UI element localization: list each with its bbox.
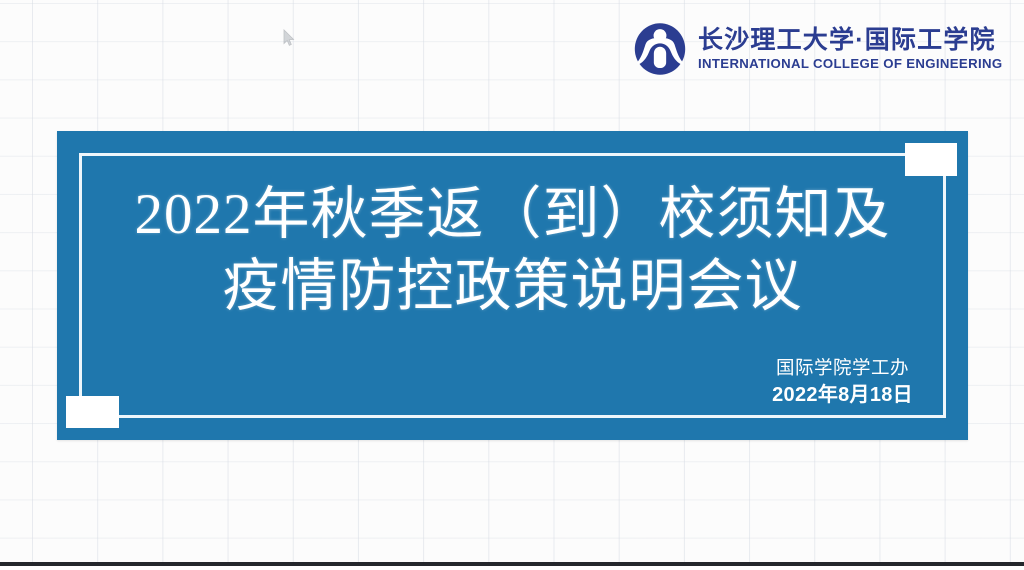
signature-organization: 国际学院学工办: [772, 358, 913, 381]
slide-headline: 2022年秋季返（到）校须知及 疫情防控政策说明会议: [57, 179, 968, 323]
logo-title-chinese: 长沙理工大学·国际工学院: [698, 28, 1002, 53]
headline-line-2: 疫情防控政策说明会议: [57, 251, 968, 323]
logo-wordmark: 长沙理工大学·国际工学院 INTERNATIONAL COLLEGE OF EN…: [698, 28, 1002, 70]
logo-title-english: INTERNATIONAL COLLEGE OF ENGINEERING: [698, 57, 1002, 70]
presentation-slide: 长沙理工大学·国际工学院 INTERNATIONAL COLLEGE OF EN…: [0, 0, 1024, 570]
corner-accent-bottom-left: [66, 396, 119, 428]
signature-date: 2022年8月18日: [772, 382, 913, 408]
university-emblem-icon: [632, 21, 688, 77]
bottom-white-strip: [0, 566, 1024, 570]
university-logo: 长沙理工大学·国际工学院 INTERNATIONAL COLLEGE OF EN…: [632, 18, 974, 80]
slide-signature: 国际学院学工办 2022年8月18日: [772, 358, 913, 408]
corner-accent-top-right: [905, 143, 957, 176]
title-panel: 2022年秋季返（到）校须知及 疫情防控政策说明会议 国际学院学工办 2022年…: [57, 131, 968, 440]
headline-line-1: 2022年秋季返（到）校须知及: [57, 179, 968, 251]
mouse-pointer-icon: [283, 29, 295, 47]
